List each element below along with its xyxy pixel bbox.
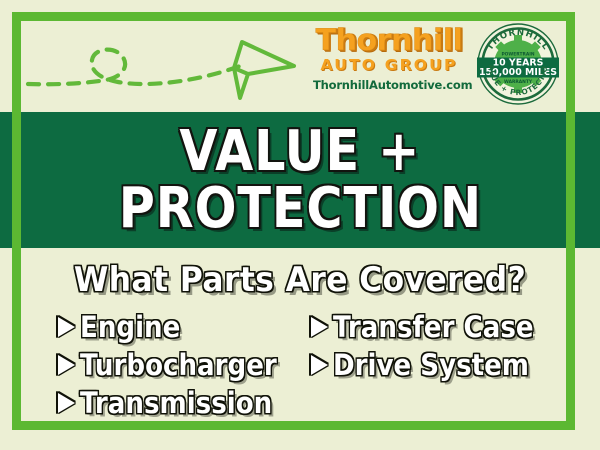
list-item: Transfer Case: [311, 310, 556, 344]
list-item: Engine: [58, 310, 299, 344]
triangle-bullet-icon: [58, 355, 75, 375]
list-item: Turbocharger: [58, 348, 299, 382]
brand-logo: Thornhill AUTO GROUP ThornhillAutomotive…: [313, 26, 465, 92]
triangle-bullet-icon: [311, 317, 328, 337]
list-item-label: Engine: [80, 310, 180, 344]
covered-parts-left-column: Engine Turbocharger Transmission: [58, 310, 299, 424]
triangle-bullet-icon: [58, 393, 75, 413]
dashed-flight-path-icon: [22, 22, 302, 104]
list-item-label: Turbocharger: [80, 348, 277, 382]
badge-powertrain-text: POWERTRAIN: [501, 52, 534, 58]
list-item-label: Drive System: [333, 348, 529, 382]
subheading: What Parts Are Covered?: [24, 260, 576, 300]
list-item: Drive System: [311, 348, 556, 382]
triangle-bullet-icon: [58, 317, 75, 337]
warranty-seal-icon: THORNHILL POWERTRAIN 10 YEARS 150,000 MI…: [476, 22, 560, 106]
list-item-label: Transfer Case: [333, 310, 534, 344]
header-area: Thornhill AUTO GROUP ThornhillAutomotive…: [0, 0, 600, 112]
badge-warranty-text: WARRANTY: [504, 79, 533, 85]
headline-line-2: PROTECTION: [118, 182, 481, 235]
headline: VALUE + PROTECTION: [0, 112, 600, 248]
advertisement-banner: Thornhill AUTO GROUP ThornhillAutomotive…: [0, 0, 600, 450]
brand-name: Thornhill: [310, 26, 468, 55]
list-item: Transmission: [58, 386, 299, 420]
warranty-badge: THORNHILL POWERTRAIN 10 YEARS 150,000 MI…: [476, 22, 560, 106]
covered-parts-right-column: Transfer Case Drive System: [311, 310, 556, 424]
covered-parts-section: What Parts Are Covered? Engine Turbochar…: [0, 248, 600, 450]
paper-plane-graphic: [22, 22, 302, 104]
headline-line-1: VALUE +: [180, 125, 421, 178]
brand-website-url: ThornhillAutomotive.com: [313, 78, 465, 92]
covered-parts-columns: Engine Turbocharger Transmission Transfe…: [0, 310, 600, 424]
brand-subtitle: AUTO GROUP: [313, 57, 465, 75]
triangle-bullet-icon: [311, 355, 328, 375]
list-item-label: Transmission: [80, 386, 272, 420]
